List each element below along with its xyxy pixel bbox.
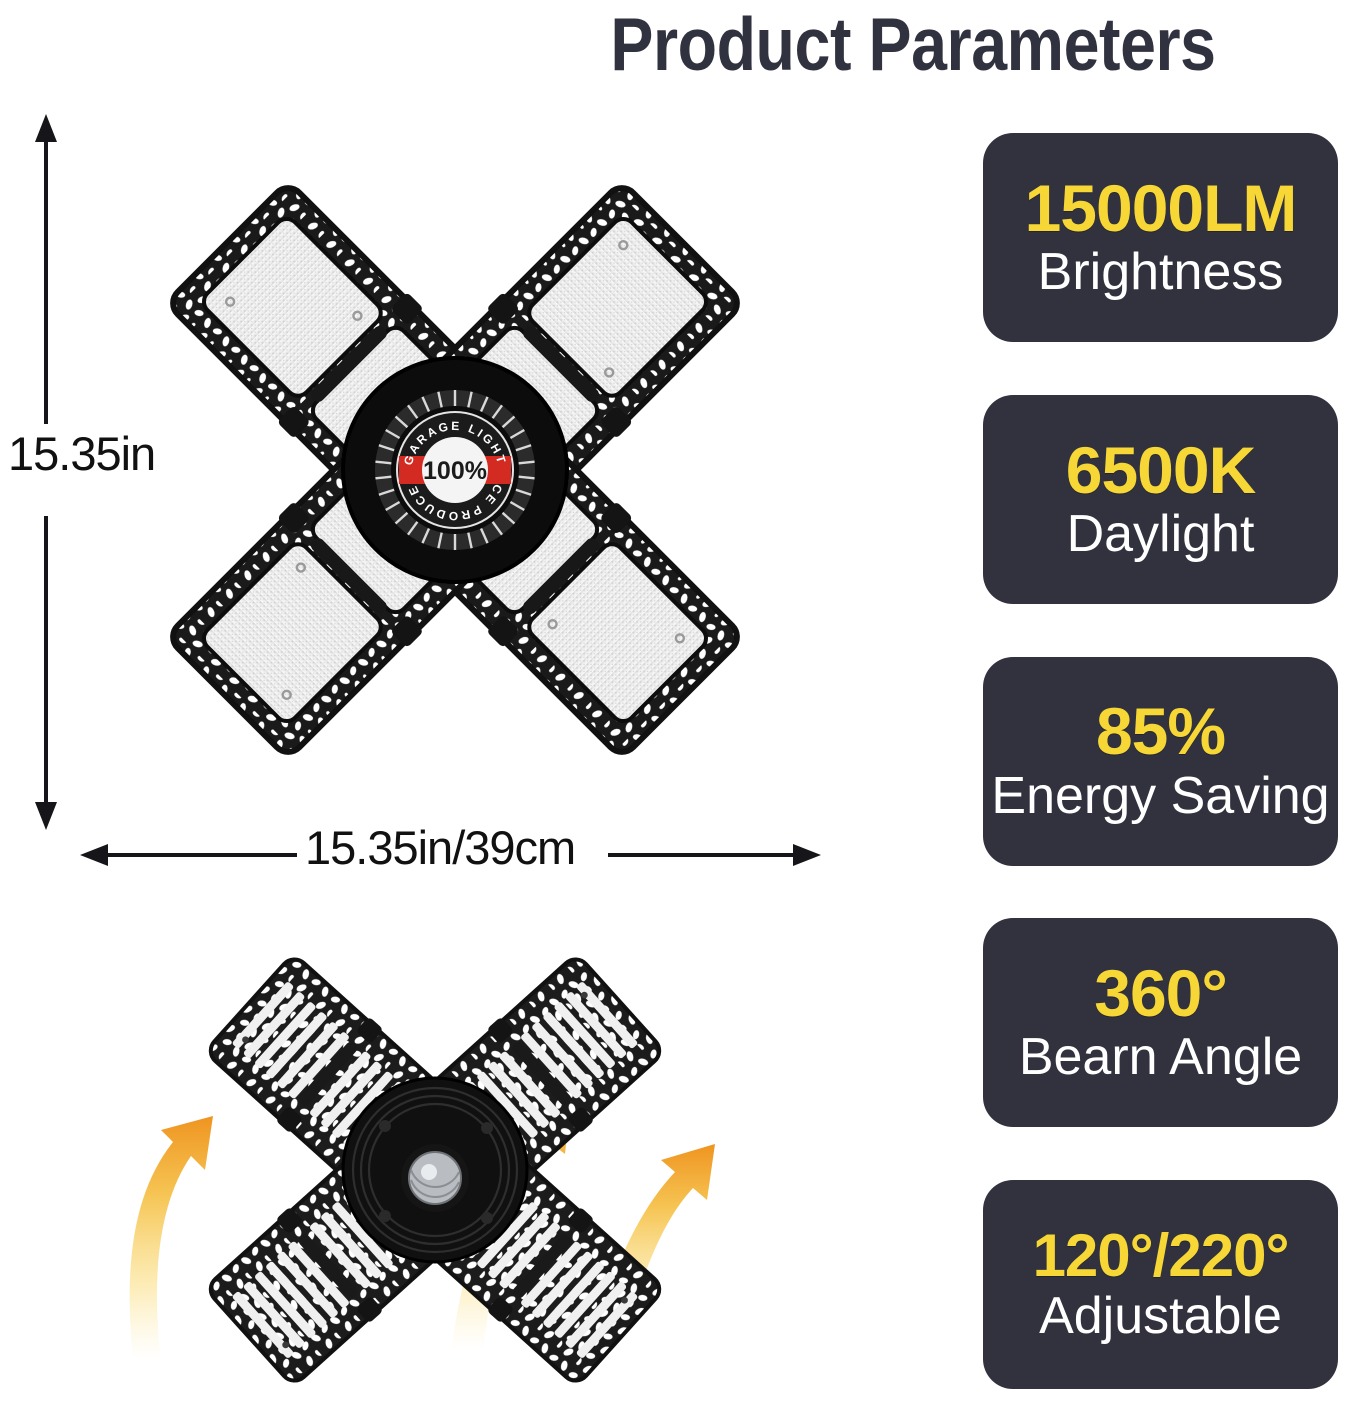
spec-card-adjustable[interactable]: 120°/220° Adjustable (983, 1180, 1338, 1389)
spec-card-list: 15000LM Brightness 6500K Daylight 85% En… (983, 133, 1338, 1389)
product-image-bottom-view (95, 890, 775, 1390)
spec-label-brightness: Brightness (1038, 244, 1284, 300)
spec-card-beam-angle[interactable]: 360° Bearn Angle (983, 918, 1338, 1127)
spec-value-adjustable: 120°/220° (1033, 1225, 1289, 1286)
spec-label-energy-saving: Energy Saving (991, 768, 1329, 824)
spec-label-color-temperature: Daylight (1067, 506, 1255, 562)
spec-value-brightness: 15000LM (1025, 175, 1297, 242)
spec-value-color-temperature: 6500K (1066, 437, 1256, 504)
spec-card-energy-saving[interactable]: 85% Energy Saving (983, 657, 1338, 866)
dimension-width-label: 15.35in/39cm (297, 818, 583, 877)
dimension-height-label: 15.35in (4, 424, 159, 483)
spec-card-brightness[interactable]: 15000LM Brightness (983, 133, 1338, 342)
page-title: Product Parameters (541, 0, 1286, 90)
spec-card-color-temperature[interactable]: 6500K Daylight (983, 395, 1338, 604)
spec-label-beam-angle: Bearn Angle (1019, 1029, 1302, 1085)
spec-value-energy-saving: 85% (1096, 698, 1225, 765)
hub-percent-text: 100% (423, 457, 487, 485)
spec-value-beam-angle: 360° (1094, 960, 1227, 1027)
spec-label-adjustable: Adjustable (1039, 1288, 1282, 1344)
